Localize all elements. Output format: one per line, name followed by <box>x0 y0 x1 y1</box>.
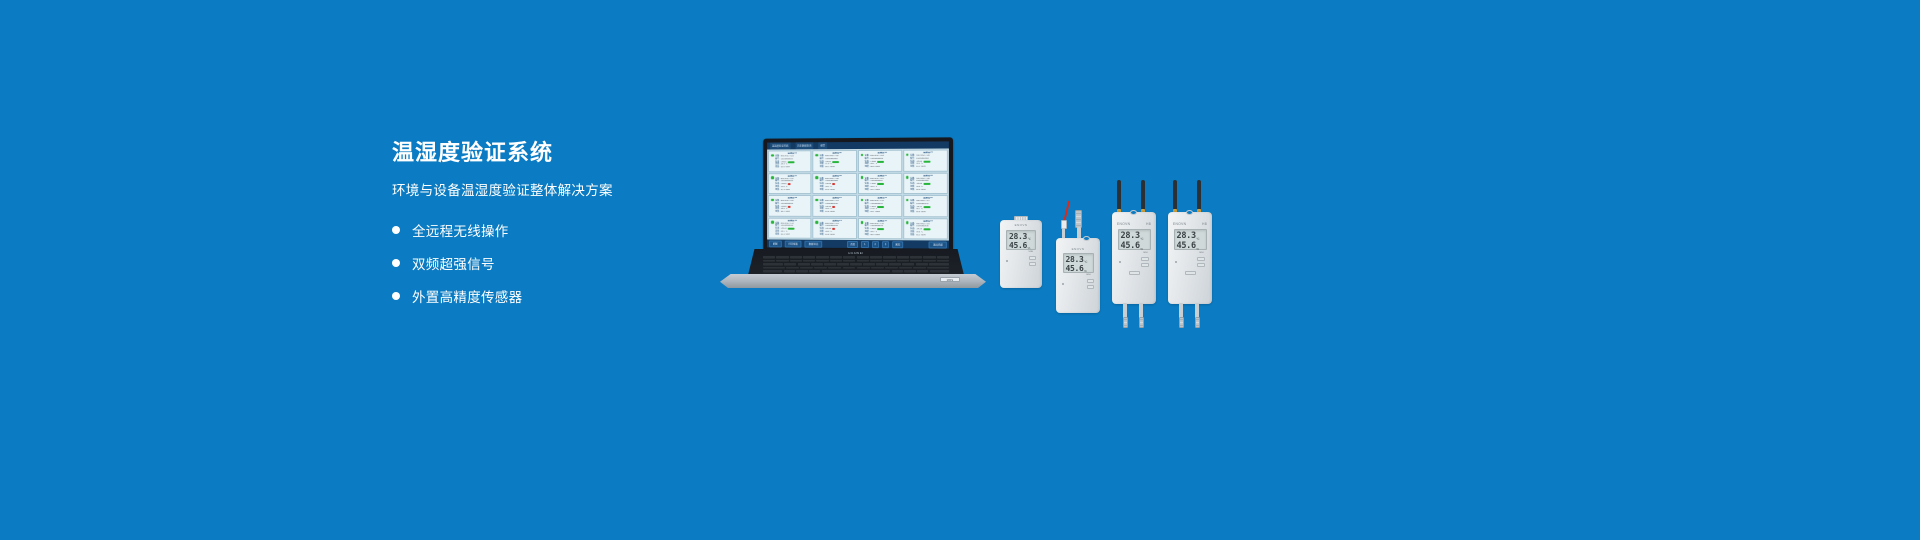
signal-bar-icon <box>923 161 930 163</box>
status-led-icon <box>860 176 863 179</box>
sensor-card-field-value: 45.6 %RH <box>781 166 790 169</box>
keyboard-key[interactable] <box>929 263 949 266</box>
sensor-card[interactable]: 监测点09设备:ENOVN-T7-09编号:13200800009信道:CH-0… <box>768 195 811 216</box>
sensor-card-field-key: 湿度: <box>910 166 915 169</box>
keyboard-key[interactable] <box>814 267 827 270</box>
sensor-card-body: 监测点15设备:ENOVN-T7-15编号:13200800015信道:CH-1… <box>865 220 900 238</box>
sensor-card-field-value: 46.1 %RH <box>825 166 834 169</box>
sensor-card-field-value: 45.5 %RH <box>870 189 880 192</box>
sensor-card-field-key: 湿度: <box>820 211 825 214</box>
toolbar-right-buttons: 退出系统 <box>929 241 947 248</box>
device-1-body: ENOVN 28.3 ℃ 45.6 % %RH <box>1000 220 1042 288</box>
keyboard-key[interactable] <box>790 256 802 259</box>
sensor-card-field-key: 湿度: <box>865 189 870 192</box>
keyboard-key[interactable] <box>871 267 884 270</box>
keyboard-key[interactable] <box>885 267 898 270</box>
device-4-label-right: H8 <box>1202 222 1207 226</box>
device-1-brand: ENOVN <box>1015 223 1028 227</box>
keyboard-key[interactable] <box>786 267 799 270</box>
sensor-card-field-key: 湿度: <box>775 189 780 192</box>
keyboard-key[interactable] <box>763 270 782 273</box>
device-3-lcd-sub: %RH <box>1143 252 1148 254</box>
keyboard-key[interactable] <box>803 256 815 259</box>
sensor-card-field: 湿度:45.3 %RH <box>775 233 810 236</box>
sensor-card-field-key: 湿度: <box>910 211 915 214</box>
keyboard-key[interactable] <box>883 260 895 263</box>
device-1-hum-value: 45.6 <box>1009 241 1027 250</box>
toolbar-button[interactable]: 首页 <box>847 240 858 247</box>
bullet-dot-icon <box>392 259 400 267</box>
keyboard-key[interactable] <box>763 256 775 259</box>
device-1-button-up[interactable] <box>1029 256 1036 260</box>
laptop-sticker: MATE <box>940 277 960 282</box>
sensor-card-field-value: 45.2 %RH <box>916 166 926 169</box>
keyboard-key[interactable] <box>937 256 949 259</box>
sensor-card-field: 湿度:45.8 %RH <box>820 234 855 237</box>
keyboard-key[interactable] <box>917 270 928 273</box>
keyboard-key[interactable] <box>843 267 856 270</box>
status-led-icon <box>860 153 863 156</box>
keyboard-key[interactable] <box>916 263 928 266</box>
status-led-icon <box>816 221 819 224</box>
sensor-card[interactable]: 监测点04设备:ENOVN-T7-04编号:13200800004信道:CH-0… <box>903 149 948 171</box>
sensor-card-field-key: 湿度: <box>775 233 780 236</box>
keyboard-key[interactable] <box>803 260 815 263</box>
sensor-card[interactable]: 监测点05设备:ENOVN-T7-05编号:13200800005信道:CH-0… <box>768 173 811 194</box>
keyboard-key[interactable] <box>850 263 862 266</box>
keyboard-key[interactable] <box>809 270 820 273</box>
device-2-temp-value: 28.3 <box>1066 255 1084 264</box>
keyboard-key[interactable] <box>870 260 882 263</box>
sensor-card[interactable]: 监测点07设备:ENOVN-T7-07编号:13200800007信道:CH-0… <box>857 172 901 194</box>
device-1-lcd: 28.3 ℃ 45.6 % %RH <box>1006 230 1036 250</box>
toolbar-button[interactable]: 退出系统 <box>929 241 947 248</box>
toolbar-button[interactable]: 尾页 <box>892 241 903 248</box>
keyboard-row <box>763 263 949 266</box>
sensor-card-field-key: 湿度: <box>820 189 825 192</box>
sensor-card-field: 湿度:45.6 %RH <box>775 166 810 169</box>
status-led-icon <box>771 221 774 224</box>
keyboard-key[interactable] <box>763 260 775 263</box>
sensor-card-field: 湿度:45.2 %RH <box>910 166 946 169</box>
keyboard-key[interactable] <box>837 263 849 266</box>
sensor-card-field-key: 湿度: <box>775 166 780 169</box>
keyboard-row <box>763 260 949 263</box>
keyboard-key[interactable] <box>800 267 813 270</box>
keyboard-key[interactable] <box>892 270 903 273</box>
keyboard-key[interactable] <box>937 260 949 263</box>
sensor-card[interactable]: 监测点08设备:ENOVN-T7-08编号:13200800008信道:CH-0… <box>903 172 948 194</box>
device-3-button-main[interactable] <box>1129 271 1140 275</box>
sensor-card[interactable]: 监测点02设备:ENOVN-T7-02编号:13200800002信道:CH-0… <box>813 150 857 172</box>
sensor-card-field: 湿度:45.1 %RH <box>865 211 900 214</box>
device-2-lcd: 28.3 ℃ 45.6 % %RH <box>1063 253 1094 273</box>
sensor-card-field: 湿度:46.2 %RH <box>910 234 946 237</box>
sensor-card-body: 监测点07设备:ENOVN-T7-07编号:13200800007信道:CH-0… <box>865 174 900 192</box>
device-4-hum-value: 45.6 <box>1177 241 1196 251</box>
device-1-button-down[interactable] <box>1029 262 1036 266</box>
sensor-card-field: 湿度:46.0 %RH <box>910 189 946 192</box>
feature-item-label: 外置高精度传感器 <box>412 286 522 306</box>
status-led-icon <box>860 199 863 202</box>
sensor-card[interactable]: 监测点15设备:ENOVN-T7-15编号:13200800015信道:CH-1… <box>857 218 901 240</box>
device-1-led <box>1006 260 1008 262</box>
device-2-hang-hole <box>1083 236 1090 241</box>
device-2-brand: ENOVN <box>1072 247 1085 251</box>
keyboard-key[interactable] <box>816 260 828 263</box>
keyboard-row <box>763 270 949 273</box>
signal-bar-icon <box>832 161 839 163</box>
device-4-hum-unit: % <box>1196 247 1199 251</box>
sensor-card[interactable]: 监测点13设备:ENOVN-T7-13编号:13200800013信道:CH-1… <box>768 217 811 239</box>
device-2-probe-mesh <box>1075 210 1082 228</box>
keyboard-key[interactable] <box>897 256 909 259</box>
keyboard-key[interactable] <box>863 263 875 266</box>
sensor-card-body: 监测点08设备:ENOVN-T7-08编号:13200800008信道:CH-0… <box>910 174 946 192</box>
sensor-card-field-key: 湿度: <box>865 234 870 237</box>
status-led-icon <box>771 176 774 179</box>
keyboard-key[interactable] <box>784 263 796 266</box>
bullet-dot-icon <box>392 226 400 234</box>
keyboard-key[interactable] <box>904 270 915 273</box>
keyboard-key[interactable] <box>883 256 895 259</box>
device-1-hum-unit: % <box>1028 246 1031 250</box>
device-2-hum-unit: % <box>1084 269 1087 273</box>
sensor-card-field-value: 44.8 %RH <box>870 166 880 169</box>
sensor-card-body: 监测点02设备:ENOVN-T7-02编号:13200800002信道:CH-0… <box>820 152 855 170</box>
keyboard-key[interactable] <box>828 267 841 270</box>
toolbar-button[interactable]: 2 <box>872 241 879 248</box>
sensor-card-field: 湿度:46.4 %RH <box>910 211 946 214</box>
keyboard-key[interactable] <box>876 263 888 266</box>
device-4-lcd-sub: %RH <box>1199 252 1204 254</box>
sensor-card-field-value: 46.4 %RH <box>916 211 926 214</box>
keyboard-key[interactable] <box>897 260 909 263</box>
device-2-button-down[interactable] <box>1087 285 1094 289</box>
keyboard-key[interactable] <box>910 260 922 263</box>
sensor-card-field-value: 45.9 %RH <box>825 189 834 192</box>
keyboard-key[interactable] <box>899 267 912 270</box>
sensor-card-field-value: 44.9 %RH <box>870 234 880 237</box>
sensor-card-body: 监测点13设备:ENOVN-T7-13编号:13200800013信道:CH-1… <box>775 219 810 237</box>
device-3-button-up[interactable] <box>1141 257 1149 261</box>
sensor-card-body: 监测点03设备:ENOVN-T7-03编号:13200800003信道:CH-0… <box>865 152 900 170</box>
keyboard-key[interactable] <box>910 256 922 259</box>
device-4-body: ENOVN H8 28.3 ℃ 45.6 % %RH <box>1168 212 1212 304</box>
device-3-led <box>1119 261 1121 263</box>
device-3-hum-unit: % <box>1140 247 1143 251</box>
device-3-antenna-right <box>1141 180 1145 210</box>
page-title: 温湿度验证系统 <box>392 140 722 166</box>
device-1-temp-value: 28.3 <box>1009 232 1027 241</box>
sensor-card[interactable]: 监测点14设备:ENOVN-T7-14编号:13200800014信道:CH-1… <box>813 217 857 239</box>
device-wireless-logger-1: ENOVN H8 28.3 ℃ 45.6 % %RH <box>1112 180 1156 304</box>
sensor-card-body: 监测点01设备:ENOVN-T7-01编号:13200800001信道:CH-0… <box>775 152 810 170</box>
sensor-card[interactable]: 监测点06设备:ENOVN-T7-06编号:13200800006信道:CH-0… <box>813 173 857 195</box>
sensor-card-body: 监测点16设备:ENOVN-T7-16编号:13200800016信道:CH-1… <box>910 220 946 238</box>
keyboard-key[interactable] <box>923 256 935 259</box>
status-led-icon <box>860 221 863 224</box>
keyboard-key[interactable] <box>843 256 855 259</box>
keyboard-key[interactable] <box>822 270 891 273</box>
toolbar-left-buttons: 刷新打印报表数据导出 <box>769 240 822 247</box>
keyboard-key[interactable] <box>816 256 828 259</box>
sensor-card-body: 监测点04设备:ENOVN-T7-04编号:13200800004信道:CH-0… <box>910 152 946 170</box>
alarm-indicator-icon <box>788 206 791 208</box>
sensor-card[interactable]: 监测点01设备:ENOVN-T7-01编号:13200800001信道:CH-0… <box>768 150 811 172</box>
device-4-probe-mesh-right <box>1195 317 1200 328</box>
device-2-probe-cable <box>1063 200 1070 222</box>
bullet-dot-icon <box>392 292 400 300</box>
toolbar-button[interactable]: 1 <box>861 241 868 248</box>
status-led-icon <box>771 154 774 157</box>
keyboard-key[interactable] <box>763 263 783 266</box>
keyboard-key[interactable] <box>811 263 823 266</box>
sensor-card-field-value: 45.3 %RH <box>781 233 790 236</box>
keyboard-key[interactable] <box>776 256 788 259</box>
device-1-lcd-sub: %RH <box>1028 251 1033 253</box>
pagination: 首页123尾页 <box>847 240 903 247</box>
laptop-lid: 温湿度验证系统历史数据查询报警 监测点01设备:ENOVN-T7-01编号:13… <box>763 137 953 251</box>
device-3-lcd: 28.3 ℃ 45.6 % %RH <box>1118 229 1151 250</box>
laptop-brand-label: HUAWEI <box>848 251 864 255</box>
feature-list: 全远程无线操作双频超强信号外置高精度传感器 <box>392 220 722 306</box>
device-4-temp-value: 28.3 <box>1177 231 1196 241</box>
device-3-temp-value: 28.3 <box>1121 231 1140 241</box>
sensor-card-field-value: 44.2 %RH <box>781 211 790 214</box>
laptop-keyboard-deck: HUAWEI <box>748 249 964 275</box>
page-subtitle: 环境与设备温湿度验证整体解决方案 <box>392 182 722 200</box>
keyboard-row <box>763 267 949 270</box>
sensor-card-field-value: 45.1 %RH <box>870 211 880 214</box>
status-led-icon <box>771 198 774 201</box>
feature-item-2: 双频超强信号 <box>392 253 722 273</box>
toolbar-button[interactable]: 打印报表 <box>785 240 802 247</box>
laptop-base: HUAWEI MATE <box>718 249 988 289</box>
keyboard-key[interactable] <box>857 267 870 270</box>
keyboard-key[interactable] <box>843 260 855 263</box>
keyboard-key[interactable] <box>902 263 914 266</box>
device-2-hum-value: 45.6 <box>1066 264 1084 273</box>
status-led-icon <box>906 176 909 179</box>
device-4-label-left: ENOVN <box>1173 222 1186 226</box>
device-3-probe-mesh-left <box>1123 317 1128 328</box>
keyboard-key[interactable] <box>930 270 949 273</box>
sensor-card-body: 监测点11设备:ENOVN-T7-11编号:13200800011信道:CH-1… <box>865 197 900 215</box>
sensor-card-field-key: 湿度: <box>865 166 870 169</box>
sensor-card[interactable]: 监测点12设备:ENOVN-T7-12编号:13200800012信道:CH-1… <box>903 195 948 217</box>
sensor-card[interactable]: 监测点10设备:ENOVN-T7-10编号:13200800010信道:CH-1… <box>813 195 857 217</box>
signal-bar-icon <box>877 161 884 163</box>
laptop-illustration: 温湿度验证系统历史数据查询报警 监测点01设备:ENOVN-T7-01编号:13… <box>718 138 988 298</box>
keyboard-key[interactable] <box>927 267 949 270</box>
sensor-card-field-key: 湿度: <box>775 211 780 214</box>
device-2-body: ENOVN 28.3 ℃ 45.6 % %RH <box>1056 238 1100 313</box>
device-3-hum-value: 45.6 <box>1121 241 1140 251</box>
keyboard-key[interactable] <box>763 267 785 270</box>
laptop-keyboard <box>763 256 949 273</box>
device-wireless-logger-2: ENOVN H8 28.3 ℃ 45.6 % %RH <box>1168 180 1212 304</box>
device-4-labels: ENOVN H8 <box>1168 222 1212 226</box>
sensor-card-field: 湿度:44.8 %RH <box>865 166 900 169</box>
feature-item-label: 全远程无线操作 <box>412 220 509 240</box>
sensor-card-field-value: 46.0 %RH <box>916 189 926 192</box>
sensor-card-body: 监测点10设备:ENOVN-T7-10编号:13200800010信道:CH-1… <box>820 197 855 215</box>
keyboard-key[interactable] <box>889 263 901 266</box>
sensor-card-field: 湿度:45.6 %RH <box>820 211 855 214</box>
device-4-button-up[interactable] <box>1197 257 1205 261</box>
sensor-card-body: 监测点12设备:ENOVN-T7-12编号:13200800012信道:CH-1… <box>910 197 946 215</box>
device-4-button-main[interactable] <box>1185 271 1196 275</box>
status-led-icon <box>816 198 819 201</box>
sensor-card-field: 湿度:46.1 %RH <box>820 166 855 169</box>
feature-item-label: 双频超强信号 <box>412 253 495 273</box>
device-3-antenna-left <box>1117 180 1121 210</box>
keyboard-key[interactable] <box>923 260 935 263</box>
sensor-card[interactable]: 监测点03设备:ENOVN-T7-03编号:13200800003信道:CH-0… <box>857 150 901 172</box>
device-4-antenna-right <box>1197 180 1201 210</box>
feature-item-3: 外置高精度传感器 <box>392 286 722 306</box>
device-3-button-down[interactable] <box>1141 263 1149 267</box>
app-bottom-toolbar: 刷新打印报表数据导出 首页123尾页 退出系统 <box>767 239 949 248</box>
device-2-lcd-sub: %RH <box>1086 274 1091 276</box>
toolbar-button[interactable]: 数据导出 <box>805 240 822 247</box>
sensor-card-field-value: 46.2 %RH <box>916 234 926 237</box>
device-group: ENOVN 28.3 ℃ 45.6 % %RH <box>1000 178 1230 308</box>
status-led-icon <box>906 221 909 224</box>
keyboard-key[interactable] <box>796 270 807 273</box>
device-2-button-up[interactable] <box>1087 279 1094 283</box>
sensor-card[interactable]: 监测点16设备:ENOVN-T7-16编号:13200800016信道:CH-1… <box>903 218 948 240</box>
keyboard-key[interactable] <box>784 270 795 273</box>
toolbar-button[interactable]: 3 <box>882 241 889 248</box>
device-temp-humidity-logger-probe: ENOVN 28.3 ℃ 45.6 % %RH <box>1056 198 1100 313</box>
keyboard-key[interactable] <box>776 260 788 263</box>
sensor-card-field: 湿度:45.9 %RH <box>820 189 855 192</box>
keyboard-row <box>763 256 949 259</box>
keyboard-key[interactable] <box>870 256 882 259</box>
sensor-card-field-key: 湿度: <box>910 234 915 237</box>
keyboard-key[interactable] <box>857 260 869 263</box>
sensor-card-field-key: 湿度: <box>865 211 870 214</box>
status-led-icon <box>906 153 909 156</box>
keyboard-key[interactable] <box>913 267 926 270</box>
device-3-probe-mesh-right <box>1139 317 1144 328</box>
keyboard-key[interactable] <box>857 256 869 259</box>
sensor-card-grid: 监测点01设备:ENOVN-T7-01编号:13200800001信道:CH-0… <box>767 148 949 240</box>
keyboard-key[interactable] <box>830 256 842 259</box>
sensor-card-field: 湿度:45.5 %RH <box>865 189 900 192</box>
sensor-card-body: 监测点05设备:ENOVN-T7-05编号:13200800005信道:CH-0… <box>775 175 810 192</box>
sensor-card-body: 监测点06设备:ENOVN-T7-06编号:13200800006信道:CH-0… <box>820 175 855 193</box>
device-4-led <box>1175 261 1177 263</box>
device-3-label-left: ENOVN <box>1117 222 1130 226</box>
feature-item-1: 全远程无线操作 <box>392 220 722 240</box>
sensor-card-field: 湿度:44.2 %RH <box>775 211 810 214</box>
sensor-card-field: 湿度:44.9 %RH <box>865 234 900 237</box>
device-4-probe-mesh-left <box>1179 317 1184 328</box>
hero-text-block: 温湿度验证系统 环境与设备温湿度验证整体解决方案 全远程无线操作双频超强信号外置… <box>392 140 722 319</box>
device-4-hang-hole <box>1186 210 1193 215</box>
status-led-icon <box>906 199 909 202</box>
sensor-card-body: 监测点14设备:ENOVN-T7-14编号:13200800014信道:CH-1… <box>820 219 855 237</box>
sensor-card-field-value: 45.8 %RH <box>825 234 834 237</box>
device-4-button-down[interactable] <box>1197 263 1205 267</box>
device-3-label-right: H8 <box>1146 222 1151 226</box>
sensor-card-field-key: 湿度: <box>910 189 915 192</box>
keyboard-key[interactable] <box>790 260 802 263</box>
sensor-card-field-value: 47.3 %RH <box>781 189 790 192</box>
keyboard-key[interactable] <box>824 263 836 266</box>
status-led-icon <box>816 154 819 157</box>
device-3-labels: ENOVN H8 <box>1112 222 1156 226</box>
sensor-card-field-key: 湿度: <box>820 166 825 169</box>
signal-bar-icon <box>877 206 884 208</box>
toolbar-button[interactable]: 刷新 <box>769 240 782 247</box>
device-4-lcd: 28.3 ℃ 45.6 % %RH <box>1174 229 1207 250</box>
alarm-indicator-icon <box>832 206 835 208</box>
keyboard-key[interactable] <box>798 263 810 266</box>
signal-bar-icon <box>923 206 930 208</box>
sensor-card-field: 湿度:47.3 %RH <box>775 189 810 192</box>
device-3-hang-hole <box>1130 210 1137 215</box>
sensor-card-body: 监测点09设备:ENOVN-T7-09编号:13200800009信道:CH-0… <box>775 197 810 214</box>
device-4-antenna-left <box>1173 180 1177 210</box>
signal-bar-icon <box>788 161 795 163</box>
sensor-card-field-value: 45.6 %RH <box>825 211 834 214</box>
status-led-icon <box>816 176 819 179</box>
laptop-screen: 温湿度验证系统历史数据查询报警 监测点01设备:ENOVN-T7-01编号:13… <box>767 141 949 248</box>
device-3-body: ENOVN H8 28.3 ℃ 45.6 % %RH <box>1112 212 1156 304</box>
device-2-led <box>1062 283 1064 285</box>
keyboard-key[interactable] <box>830 260 842 263</box>
device-temp-humidity-logger-small: ENOVN 28.3 ℃ 45.6 % %RH <box>1000 220 1042 288</box>
sensor-card-field-key: 湿度: <box>820 234 825 237</box>
sensor-card[interactable]: 监测点11设备:ENOVN-T7-11编号:13200800011信道:CH-1… <box>857 195 901 217</box>
app-topbar-item-3[interactable]: 报警 <box>818 142 827 149</box>
